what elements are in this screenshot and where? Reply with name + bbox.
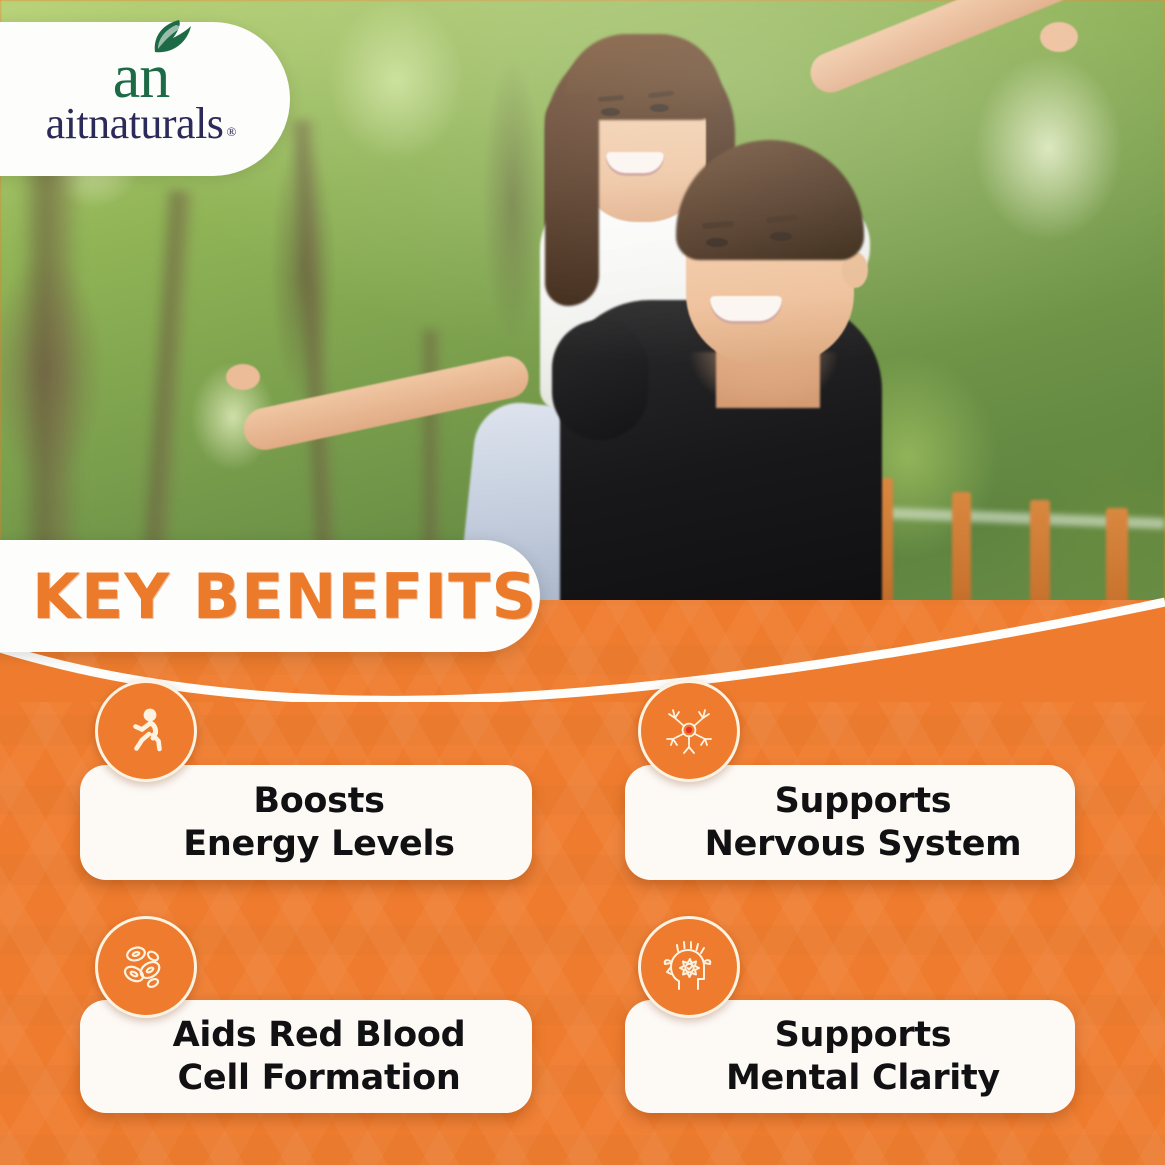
benefit-label: Boosts Energy Levels xyxy=(183,780,454,865)
outstretched-arm-right xyxy=(805,0,1080,99)
logo-wordmark: aitnaturals ® xyxy=(46,102,237,146)
benefit-card-supports-nervous-system[interactable]: Supports Nervous System xyxy=(625,765,1075,880)
page-title: KEY BENEFITS xyxy=(32,560,537,633)
woman-eye-right xyxy=(650,104,669,112)
neuron-icon xyxy=(661,703,717,759)
benefit-icon-badge-mental-clarity xyxy=(638,916,740,1018)
running-person-icon xyxy=(120,705,172,757)
benefit-icon-badge-red-blood-cells xyxy=(95,916,197,1018)
man-eye-left xyxy=(706,238,728,247)
man-sleeve xyxy=(552,320,648,440)
trademark-symbol: ® xyxy=(226,124,236,140)
hand-left xyxy=(226,364,260,390)
logo-mark-text: an xyxy=(46,52,237,103)
key-benefits-banner: KEY BENEFITS xyxy=(0,540,540,652)
man-smile xyxy=(710,296,782,324)
woman-hair-side xyxy=(545,96,599,306)
key-benefits-poster: an aitnaturals ® KEY BENEFITS Boosts Ene… xyxy=(0,0,1165,1165)
benefit-label: Supports Mental Clarity xyxy=(726,1014,1000,1099)
woman-smile xyxy=(606,152,664,176)
brand-logo[interactable]: an aitnaturals ® xyxy=(0,22,290,176)
benefit-icon-badge-nervous-system xyxy=(638,680,740,782)
woman-eye-left xyxy=(601,108,620,116)
red-blood-cells-icon xyxy=(119,940,173,994)
benefit-card-boosts-energy-levels[interactable]: Boosts Energy Levels xyxy=(80,765,532,880)
logo-word-text: aitnaturals xyxy=(46,102,224,146)
man-eye-right xyxy=(770,232,792,241)
benefit-label: Supports Nervous System xyxy=(705,780,1022,865)
hand-right xyxy=(1040,22,1078,52)
brand-logo-inner: an aitnaturals ® xyxy=(46,52,237,147)
benefit-label: Aids Red Blood Cell Formation xyxy=(173,1014,466,1099)
head-with-gear-brain-icon xyxy=(661,939,717,995)
leaf-icon xyxy=(149,18,195,62)
benefit-icon-badge-energy xyxy=(95,680,197,782)
